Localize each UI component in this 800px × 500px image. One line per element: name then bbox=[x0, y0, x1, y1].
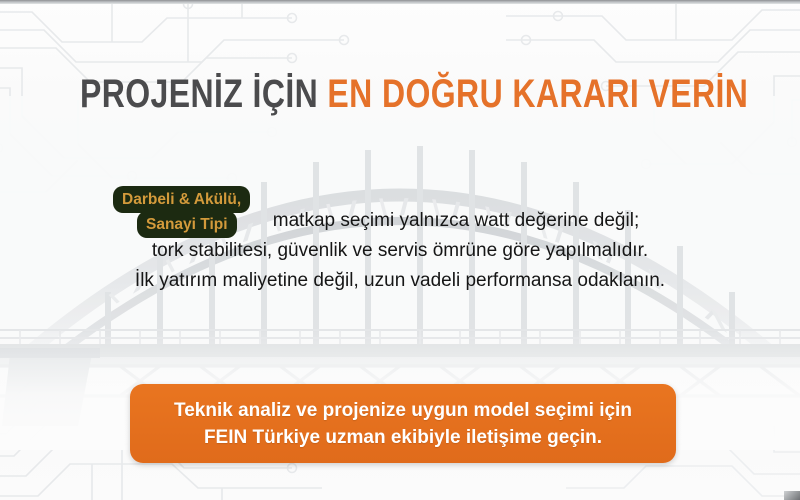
body-copy-line-2: tork stabilitesi, güvenlik ve servis ömr… bbox=[60, 236, 740, 266]
bottom-right-corner-marker bbox=[784, 491, 800, 500]
contact-cta-button[interactable]: Teknik analiz ve projenize uygun model s… bbox=[130, 384, 676, 463]
page-title-accent-part: EN DOĞRU KARARI VERİN bbox=[327, 72, 748, 116]
body-copy: matkap seçimi yalnızca watt değerine değ… bbox=[60, 206, 740, 296]
page-title-dark-part: PROJENİZ İÇİN bbox=[80, 72, 318, 116]
page-title: PROJENİZ İÇİN EN DOĞRU KARARI VERİN bbox=[80, 72, 720, 116]
body-copy-line-3: İlk yatırım maliyetine değil, uzun vadel… bbox=[60, 266, 740, 296]
top-edge-bar bbox=[0, 0, 800, 4]
cta-line-2: FEIN Türkiye uzman ekibiyle iletişime ge… bbox=[204, 424, 602, 451]
banner-root: PROJENİZ İÇİN EN DOĞRU KARARI VERİN Darb… bbox=[0, 0, 800, 500]
body-copy-line-1: matkap seçimi yalnızca watt değerine değ… bbox=[60, 206, 740, 236]
cta-line-1: Teknik analiz ve projenize uygun model s… bbox=[174, 397, 632, 424]
